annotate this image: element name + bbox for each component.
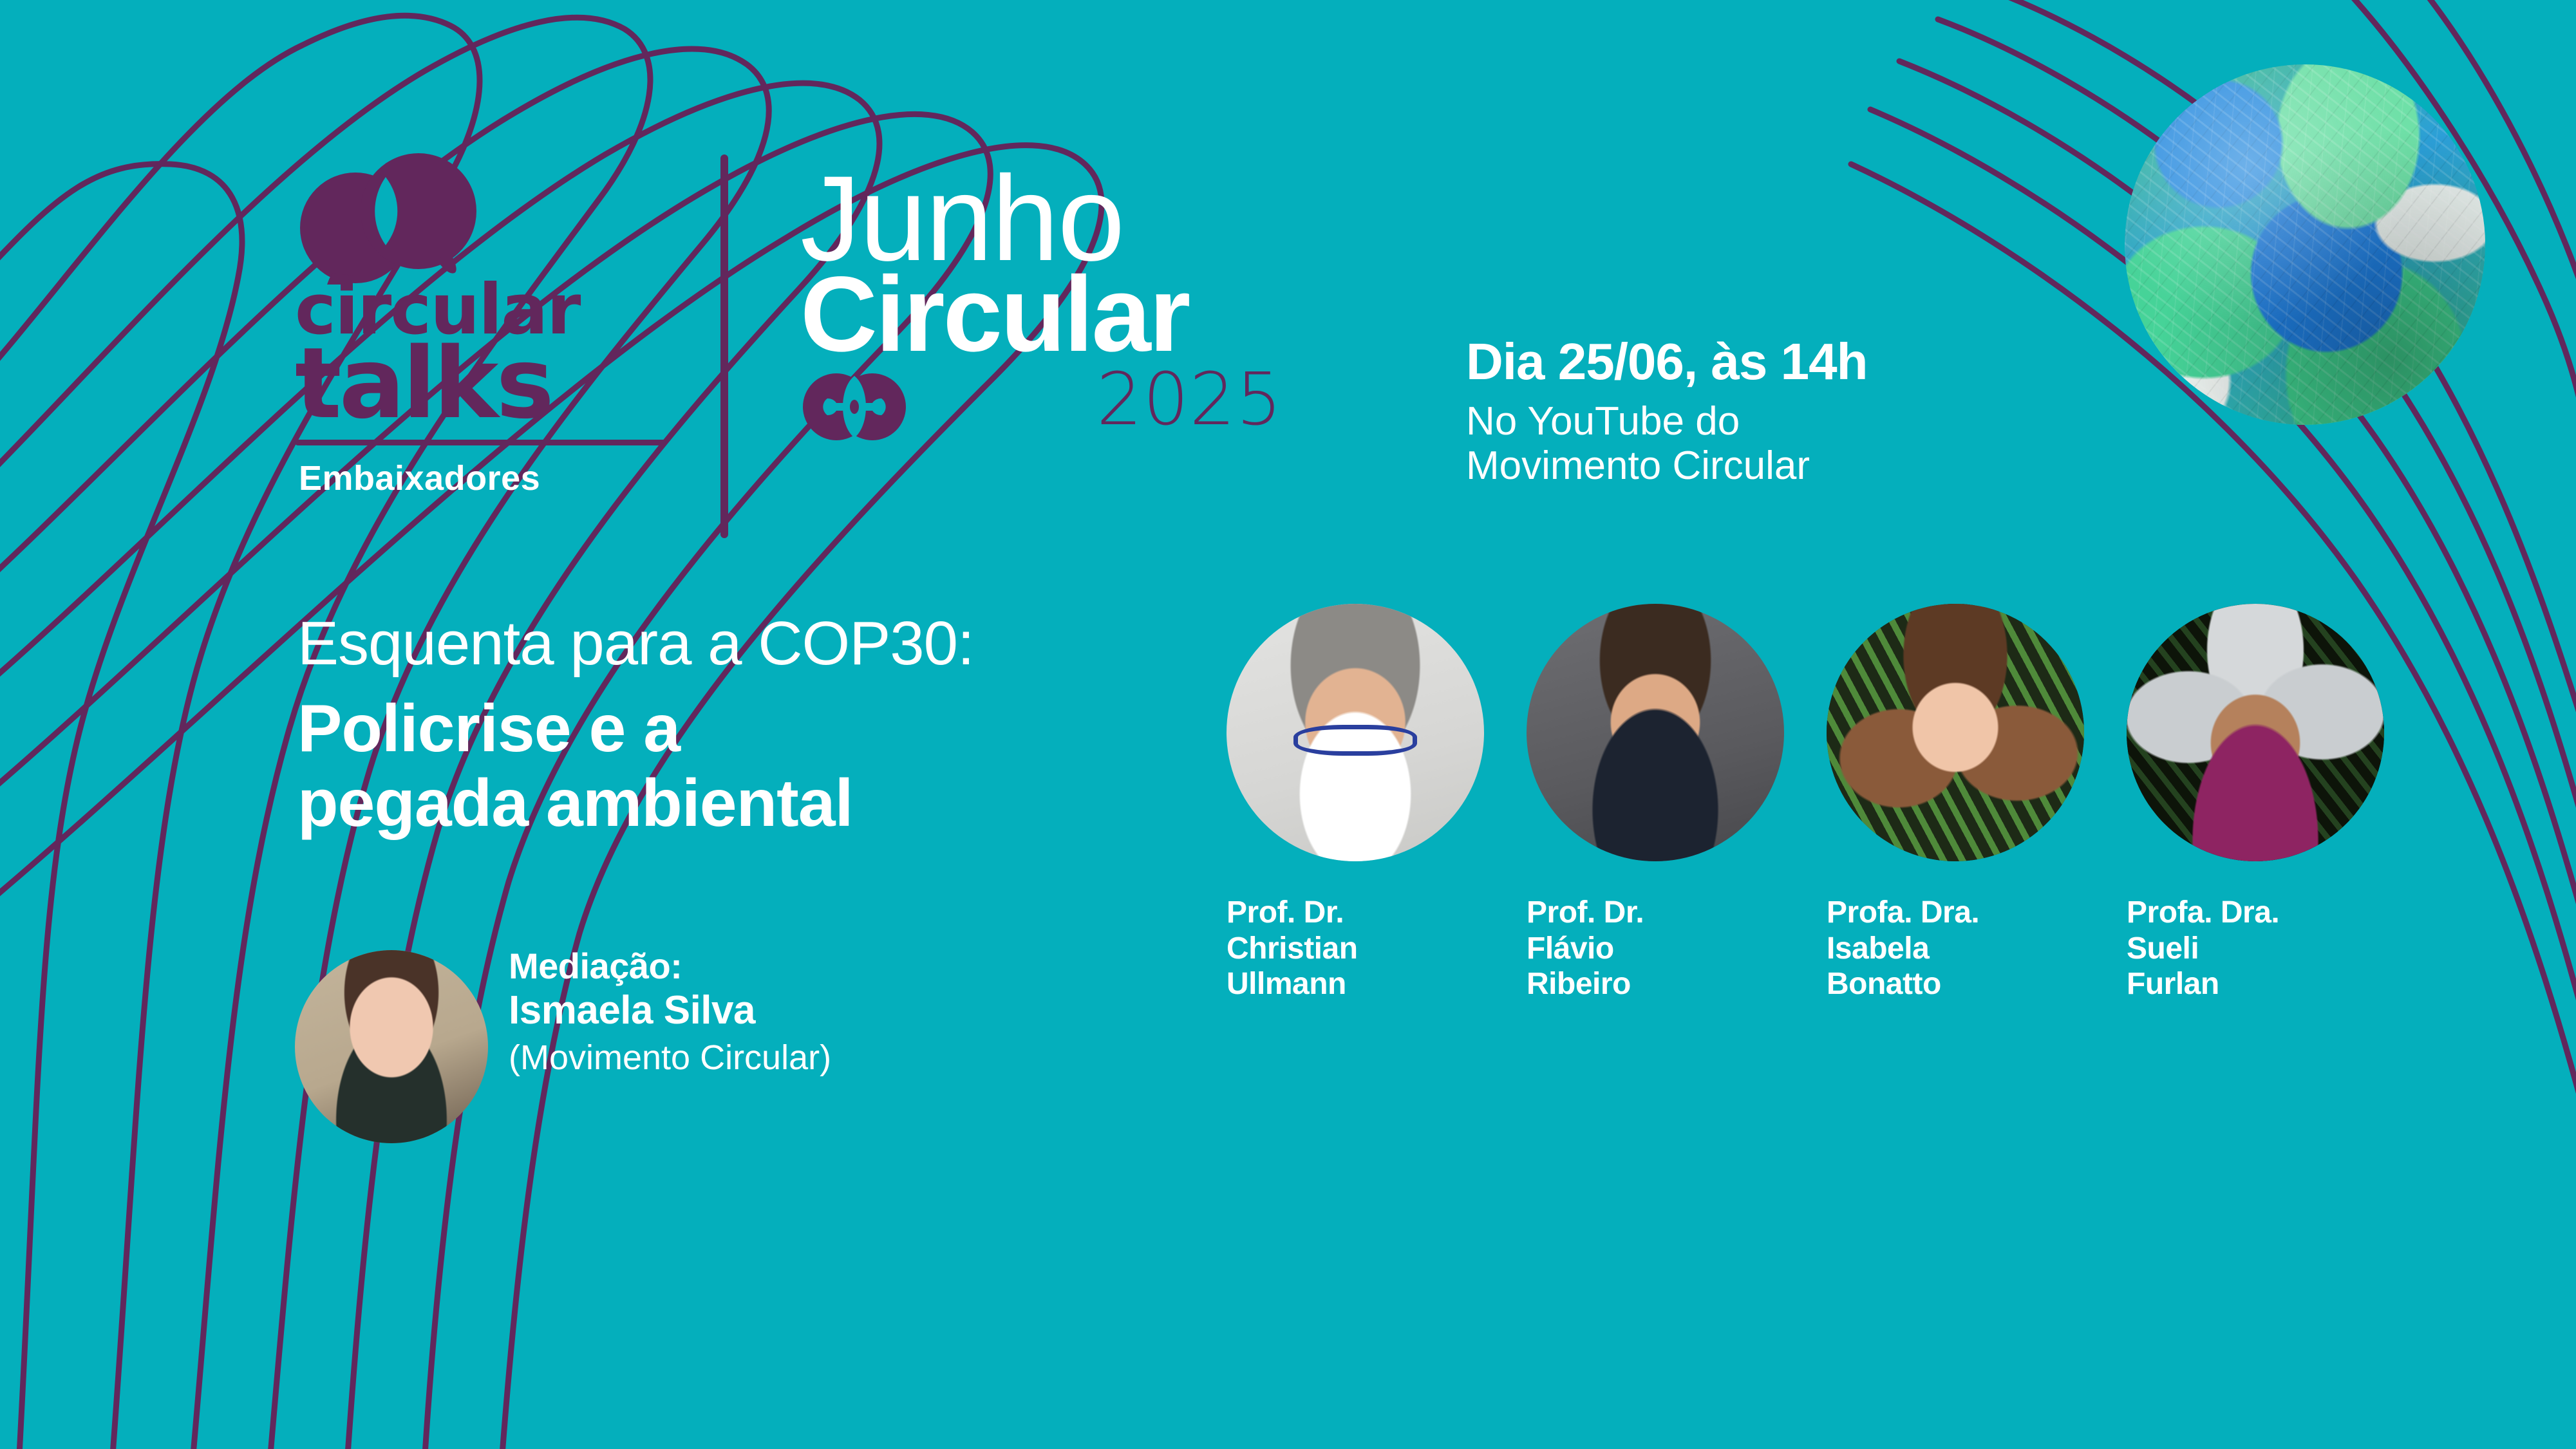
event-when-where: Dia 25/06, às 14h No YouTube do Moviment… (1466, 335, 2110, 489)
vertical-divider (720, 154, 728, 538)
speaker-name: Profa. Dra. Sueli Furlan (2127, 895, 2397, 1002)
speaker-last-name: Ullmann (1227, 966, 1497, 1002)
logo-word-talks: talks (295, 339, 681, 429)
speaker-first-name: Sueli (2127, 931, 2397, 967)
speaker-title: Profa. Dra. (1827, 895, 2097, 931)
mediator-avatar (295, 950, 488, 1143)
speaker-avatar (1527, 604, 1784, 861)
speaker-name: Prof. Dr. Christian Ullmann (1227, 895, 1497, 1002)
event-banner: circular talks Embaixadores Junho Circul… (0, 0, 2576, 1449)
plastic-bag-globe-image (2125, 64, 2485, 425)
headline-line1: Policrise e a (297, 691, 1263, 766)
speaker-last-name: Furlan (2127, 966, 2397, 1002)
speakers-list: Prof. Dr. Christian Ullmann Prof. Dr. Fl… (1227, 604, 2488, 1002)
speaker-card: Prof. Dr. Christian Ullmann (1227, 604, 1497, 1002)
speaker-name: Profa. Dra. Isabela Bonatto (1827, 895, 2097, 1002)
speaker-title: Prof. Dr. (1527, 895, 1797, 931)
speaker-first-name: Flávio (1527, 931, 1797, 967)
movimento-circular-mark-icon (803, 371, 906, 442)
circular-talks-logo: circular talks Embaixadores (295, 149, 681, 542)
speaker-card: Profa. Dra. Isabela Bonatto (1827, 604, 2097, 1002)
event-date-time: Dia 25/06, às 14h (1466, 335, 2110, 389)
speaker-card: Profa. Dra. Sueli Furlan (2127, 604, 2397, 1002)
eyeglasses-icon (1293, 725, 1417, 756)
mediation-label: Mediação: (509, 946, 831, 986)
speaker-last-name: Bonatto (1827, 966, 2097, 1002)
headline-kicker: Esquenta para a COP30: (297, 613, 1263, 675)
speaker-last-name: Ribeiro (1527, 966, 1797, 1002)
mediation-block: Mediação: Ismaela Silva (Movimento Circu… (303, 946, 1011, 1077)
speaker-title: Prof. Dr. (1227, 895, 1497, 931)
mediator-name: Ismaela Silva (509, 989, 831, 1033)
speaker-avatar (2127, 604, 2384, 861)
speaker-first-name: Christian (1227, 931, 1497, 967)
session-headline: Esquenta para a COP30: Policrise e a peg… (297, 613, 1263, 841)
speaker-title: Profa. Dra. (2127, 895, 2397, 931)
speaker-avatar (1227, 604, 1484, 861)
title-year: 2025 (1096, 364, 1283, 436)
headline-line2: pegada ambiental (297, 766, 1263, 841)
speaker-first-name: Isabela (1827, 931, 2097, 967)
title-line-circular: Circular (800, 266, 1354, 364)
speaker-name: Prof. Dr. Flávio Ribeiro (1527, 895, 1797, 1002)
speaker-avatar (1827, 604, 2084, 861)
logo-subtitle: Embaixadores (299, 458, 681, 498)
event-platform-line1: No YouTube do (1466, 399, 2110, 444)
speaker-card: Prof. Dr. Flávio Ribeiro (1527, 604, 1797, 1002)
speech-bubbles-icon (299, 149, 492, 275)
event-title: Junho Circular 2025 (800, 161, 1354, 445)
logo-rule (295, 440, 666, 445)
mediator-organization: (Movimento Circular) (509, 1039, 831, 1077)
event-platform-line2: Movimento Circular (1466, 444, 2110, 488)
